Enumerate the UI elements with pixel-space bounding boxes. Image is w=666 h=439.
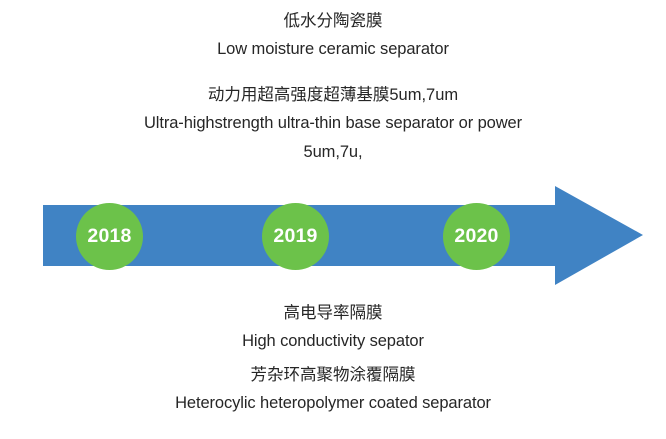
bottom-p1-line-en: High conductivity sepator (0, 327, 666, 356)
bottom-annotation-block: 高电导率隔膜 High conductivity sepator 芳杂环高聚物涂… (0, 300, 666, 418)
diagram-canvas: 低水分陶瓷膜 Low moisture ceramic separator 动力… (0, 0, 666, 439)
timeline-marker-2019-label: 2019 (273, 227, 317, 247)
bottom-p1-line-cn: 高电导率隔膜 (0, 300, 666, 327)
timeline-marker-2020-label: 2020 (454, 227, 498, 247)
bottom-paragraph-1: 高电导率隔膜 High conductivity sepator (0, 300, 666, 356)
top-paragraph-1: 低水分陶瓷膜 Low moisture ceramic separator (0, 8, 666, 64)
bottom-paragraph-2: 芳杂环高聚物涂覆隔膜 Heterocylic heteropolymer coa… (0, 362, 666, 418)
timeline-marker-2018[interactable]: 2018 (76, 203, 143, 270)
top-p2-line-en-2: 5um,7u, (0, 138, 666, 167)
top-paragraph-2: 动力用超高强度超薄基膜5um,7um Ultra-highstrength ul… (0, 82, 666, 167)
top-annotation-block: 低水分陶瓷膜 Low moisture ceramic separator 动力… (0, 8, 666, 167)
bottom-p2-line-en: Heterocylic heteropolymer coated separat… (0, 389, 666, 418)
bottom-p2-line-cn: 芳杂环高聚物涂覆隔膜 (0, 362, 666, 389)
top-p2-line-en-1: Ultra-highstrength ultra-thin base separ… (0, 109, 666, 138)
timeline-marker-2020[interactable]: 2020 (443, 203, 510, 270)
timeline-marker-2018-label: 2018 (87, 227, 131, 247)
top-p1-line-cn: 低水分陶瓷膜 (0, 8, 666, 35)
top-p2-line-cn: 动力用超高强度超薄基膜5um,7um (0, 82, 666, 109)
top-p1-line-en: Low moisture ceramic separator (0, 35, 666, 64)
timeline-marker-2019[interactable]: 2019 (262, 203, 329, 270)
